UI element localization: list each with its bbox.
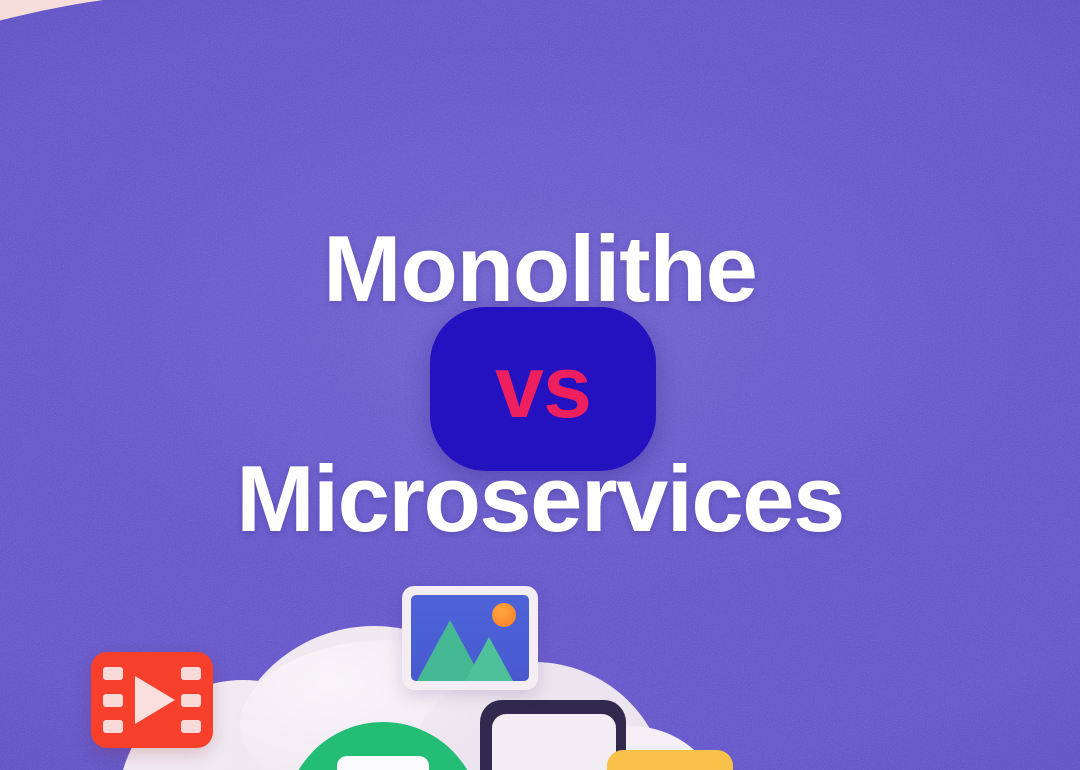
vs-badge: vs (430, 307, 656, 471)
yellow-shape (607, 750, 733, 770)
film-sprocket (181, 667, 201, 680)
film-sprocket (103, 694, 123, 707)
video-icon (91, 652, 213, 748)
film-sprocket (181, 720, 201, 733)
poster-canvas: vs Monolithe Microservices (0, 0, 1080, 770)
pink-corner-wedge-icon (0, 0, 144, 28)
play-icon (135, 676, 175, 724)
film-sprocket (103, 667, 123, 680)
film-sprocket (181, 694, 201, 707)
page-title-line-1: Monolithe (0, 222, 1080, 316)
dark-panel-screen (492, 714, 616, 770)
mountain-icon-small (465, 637, 513, 681)
sun-icon (492, 603, 516, 627)
photo-icon (402, 586, 538, 690)
vs-label: vs (495, 343, 591, 431)
photo-inner-scene (411, 595, 529, 681)
green-circle-inner-card (337, 756, 429, 770)
film-sprocket (103, 720, 123, 733)
